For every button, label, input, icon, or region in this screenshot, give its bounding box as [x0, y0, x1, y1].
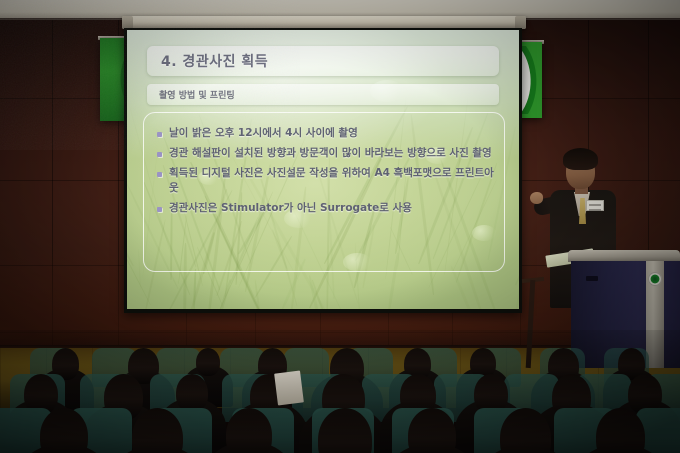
slide-title-text: 4. 경관사진 획득: [161, 51, 268, 71]
slide-bullet-item: 경관 해설판이 설치된 방향과 방문객이 많이 바라보는 방향으로 사진 촬영: [143, 146, 495, 161]
slide-bullet-item: 경관사진은 Stimulator가 아닌 Surrogate로 사용: [143, 201, 495, 216]
speaker-hand: [530, 192, 543, 204]
slide-bullet-text: 경관사진은 Stimulator가 아닌 Surrogate로 사용: [169, 201, 412, 216]
presentation-photo-scene: 젼 4. 경관사진 획득 촬영 방법 및 프린팅 날이 밝은 오후 12시에서 …: [0, 0, 680, 453]
audience-head: [196, 348, 220, 376]
audience-handout: [274, 371, 304, 406]
slide-bullet-text: 경관 해설판이 설치된 방향과 방문객이 많이 바라보는 방향으로 사진 촬영: [169, 146, 492, 161]
slide-bullet-text: 날이 밝은 오후 12시에서 4시 사이에 촬영: [169, 126, 358, 141]
slide-subtitle-text: 촬영 방법 및 프린팅: [159, 88, 235, 101]
audience-head: [176, 374, 208, 412]
podium-logo-icon: [648, 272, 662, 286]
projection-screen: 4. 경관사진 획득 촬영 방법 및 프린팅 날이 밝은 오후 12시에서 4시…: [127, 30, 519, 309]
bullet-marker-icon: [157, 152, 162, 157]
bullet-marker-icon: [157, 132, 162, 137]
speaker-hair: [563, 148, 598, 170]
projection-screen-frame: 4. 경관사진 획득 촬영 방법 및 프린팅 날이 밝은 오후 12시에서 4시…: [124, 28, 522, 313]
audience: [0, 330, 680, 453]
slide-bullet-item: 날이 밝은 오후 12시에서 4시 사이에 촬영: [143, 126, 495, 141]
audience-head: [40, 408, 88, 453]
slide-bullet-item: 획득된 디지털 사진은 사진설문 작성을 위하여 A4 흑백포맷으로 프린트아웃: [143, 166, 495, 196]
slide-bullet-list: 날이 밝은 오후 12시에서 4시 사이에 촬영경관 해설판이 설치된 방향과 …: [143, 126, 495, 221]
speaker-name-badge: [586, 200, 604, 211]
audience-head: [408, 408, 456, 453]
podium-notch: [586, 276, 598, 281]
slide-bullet-text: 획득된 디지털 사진은 사진설문 작성을 위하여 A4 흑백포맷으로 프린트아웃: [169, 166, 495, 196]
slide-title-box: 4. 경관사진 획득: [147, 46, 499, 76]
audience-head: [226, 408, 272, 453]
bullet-marker-icon: [157, 172, 162, 177]
bullet-marker-icon: [157, 207, 162, 212]
slide-subtitle-box: 촬영 방법 및 프린팅: [147, 84, 499, 105]
